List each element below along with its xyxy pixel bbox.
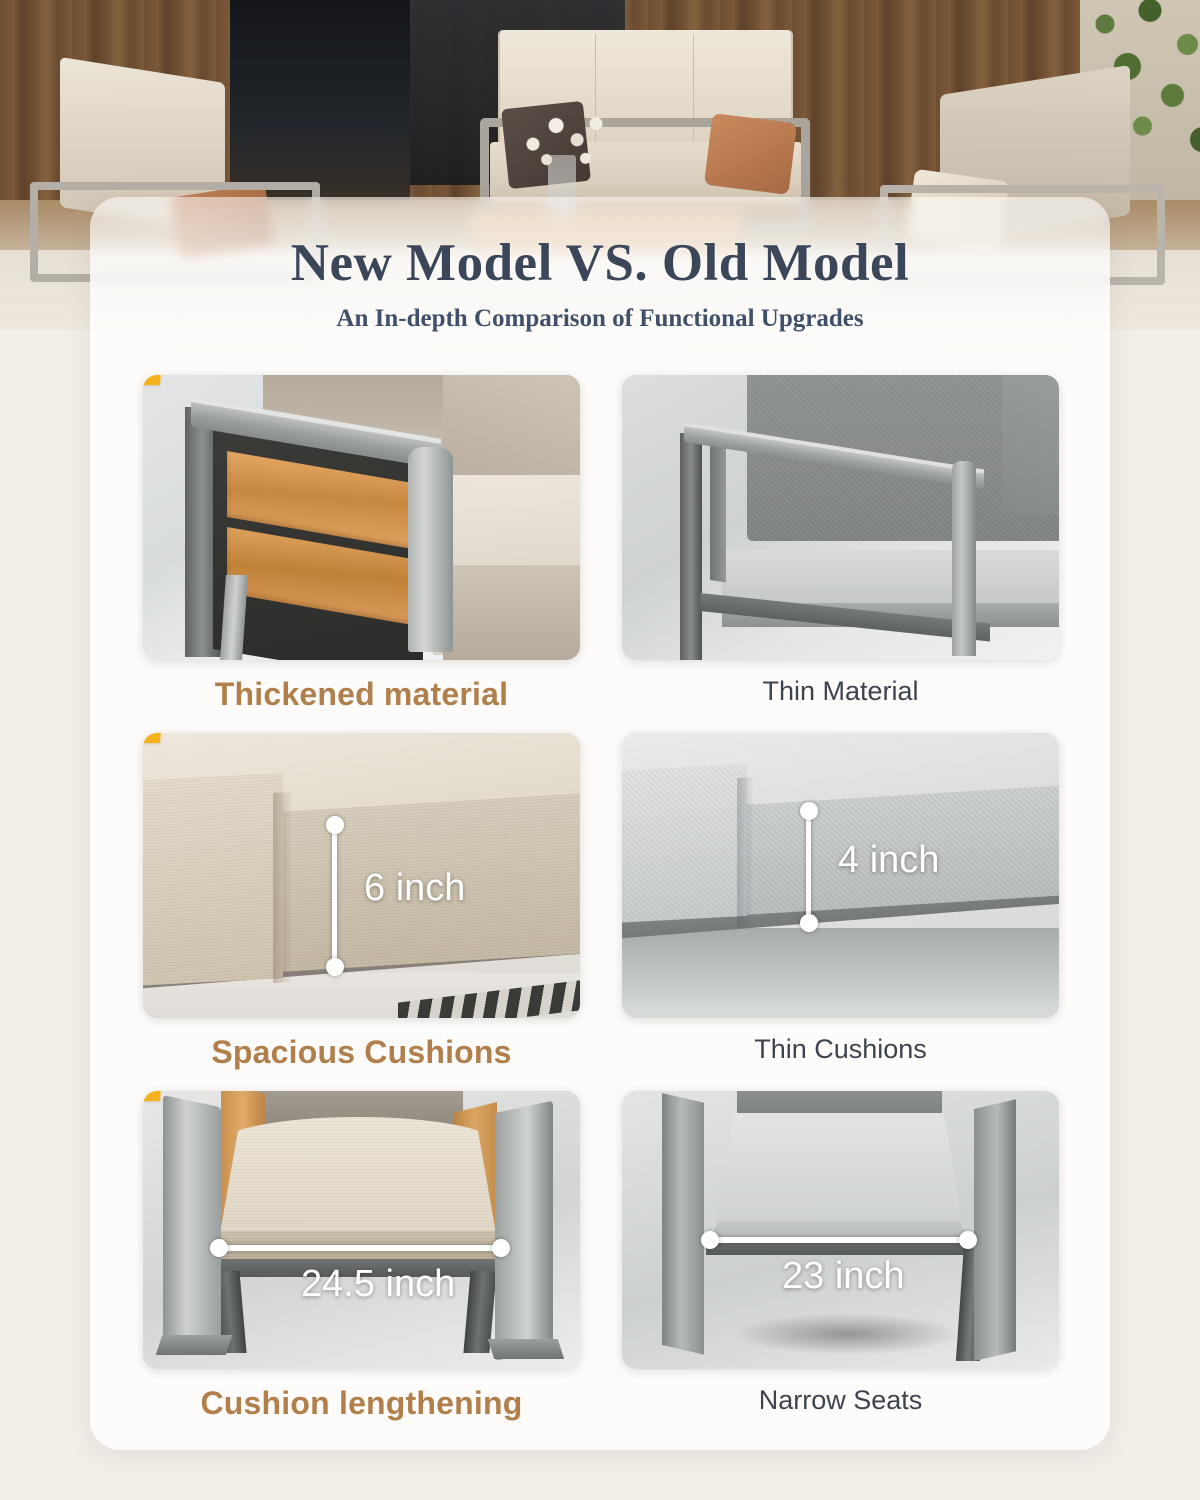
new-cushion-label: Spacious Cushions — [143, 1034, 580, 1071]
old-cushion-measurement-text: 4 inch — [838, 839, 939, 882]
old-cushion-label: Thin Cushions — [622, 1034, 1059, 1071]
crown-icon — [143, 1091, 177, 1107]
old-seat-panel[interactable]: 23 inch — [622, 1091, 1059, 1369]
new-chair-front-photo — [143, 1091, 580, 1369]
new-cushion-photo — [143, 733, 580, 1018]
old-material-label: Thin Material — [622, 676, 1059, 713]
page-subtitle: An In-depth Comparison of Functional Upg… — [90, 305, 1110, 333]
old-seat-label: Narrow Seats — [622, 1385, 1059, 1422]
new-material-panel[interactable] — [143, 375, 580, 660]
old-cushion-panel[interactable]: 4 inch — [622, 733, 1059, 1018]
old-armrest-photo — [622, 375, 1059, 660]
new-seat-label: Cushion lengthening — [143, 1385, 580, 1422]
comparison-grid: Thickened material Thin Material — [143, 375, 1059, 1442]
new-cushion-measurement-text: 6 inch — [364, 867, 465, 910]
comparison-row-cushions: 6 inch — [143, 733, 1059, 1071]
old-cushion-measurement: 4 inch — [800, 811, 818, 923]
old-chair-front-photo — [622, 1091, 1059, 1369]
new-seat-measurement-text: 24.5 inch — [301, 1263, 455, 1306]
orange-pillow-decor — [704, 113, 797, 195]
new-armrest-photo — [143, 375, 580, 660]
crown-icon — [143, 733, 177, 749]
page-title: New Model VS. Old Model — [90, 233, 1110, 293]
old-seat-measurement-text: 23 inch — [782, 1255, 905, 1298]
new-seat-panel[interactable]: 24.5 inch — [143, 1091, 580, 1369]
crown-icon — [143, 375, 177, 391]
new-seat-measurement: 24.5 inch — [219, 1239, 501, 1257]
new-material-label: Thickened material — [143, 676, 580, 713]
new-cushion-panel[interactable]: 6 inch — [143, 733, 580, 1018]
old-material-panel[interactable] — [622, 375, 1059, 660]
new-cushion-measurement: 6 inch — [326, 825, 344, 967]
comparison-row-seat-width: 24.5 inch — [143, 1091, 1059, 1422]
old-seat-measurement: 23 inch — [710, 1231, 968, 1249]
comparison-card: New Model VS. Old Model An In-depth Comp… — [90, 197, 1110, 1450]
comparison-row-material: Thickened material Thin Material — [143, 375, 1059, 713]
